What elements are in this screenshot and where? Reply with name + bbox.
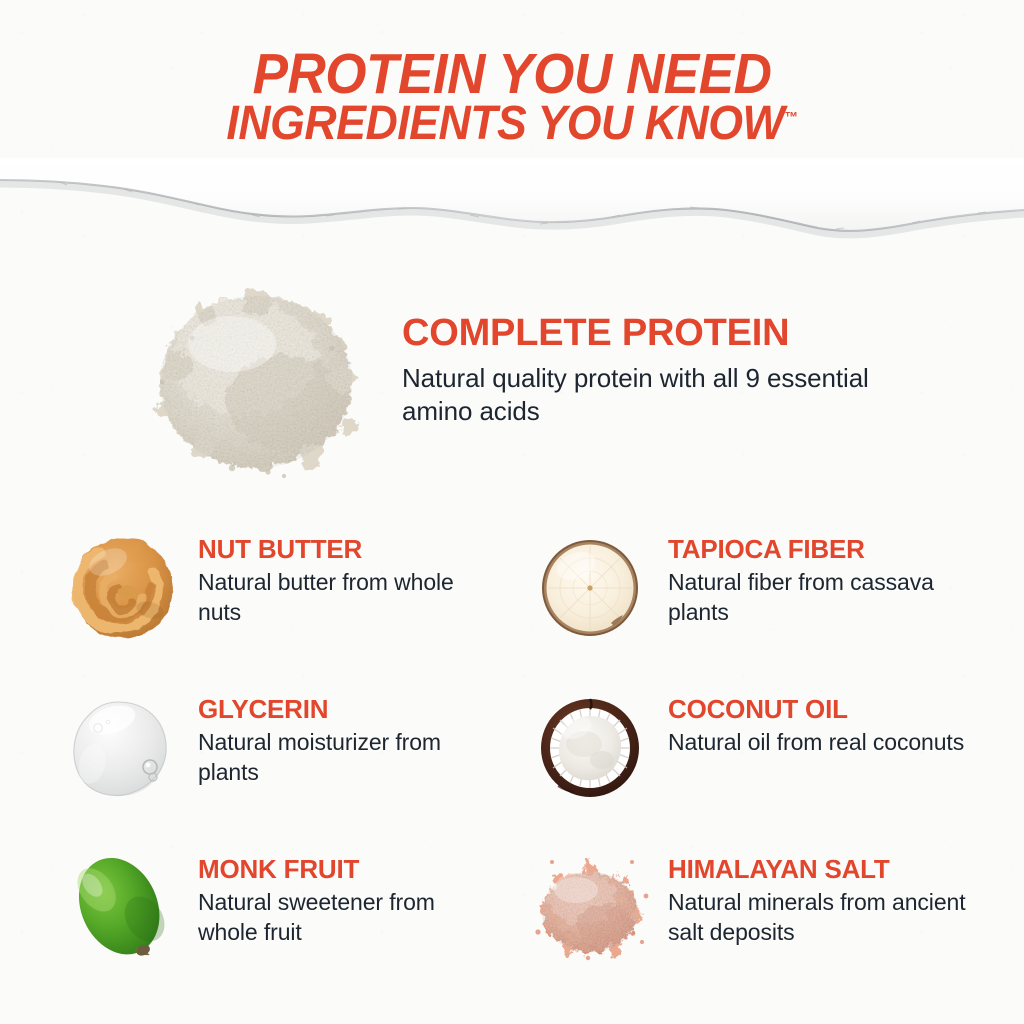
ingredient-row-3: MONK FRUIT Natural sweetener from whole … <box>0 840 1024 980</box>
header: PROTEIN YOU NEED INGREDIENTS YOU KNOW™ <box>0 0 1024 190</box>
himalayan-salt-pile-icon <box>528 846 658 971</box>
ingredient-card-monk-fruit: MONK FRUIT Natural sweetener from whole … <box>30 840 500 980</box>
hero-text-block: COMPLETE PROTEIN Natural quality protein… <box>402 314 872 429</box>
hero-title: COMPLETE PROTEIN <box>402 314 872 354</box>
monk-fruit-text-block: MONK FRUIT Natural sweetener from whole … <box>198 856 498 948</box>
protein-powder-pile-icon <box>136 262 376 487</box>
coconut-oil-description: Natural oil from real coconuts <box>668 728 968 758</box>
monk-fruit-description: Natural sweetener from whole fruit <box>198 888 498 948</box>
glycerin-text-block: GLYCERIN Natural moisturizer from plants <box>198 696 498 788</box>
tapioca-fiber-title: TAPIOCA FIBER <box>668 536 968 563</box>
glycerin-description: Natural moisturizer from plants <box>198 728 498 788</box>
glycerin-droplet-icon <box>58 686 188 811</box>
headline-line-1: PROTEIN YOU NEED <box>36 46 988 103</box>
nut-butter-description: Natural butter from whole nuts <box>198 568 498 628</box>
monk-fruit-title: MONK FRUIT <box>198 856 498 883</box>
tapioca-fiber-text-block: TAPIOCA FIBER Natural fiber from cassava… <box>668 536 968 628</box>
headline-line-2-text: INGREDIENTS YOU KNOW <box>226 97 784 150</box>
ingredient-card-glycerin: GLYCERIN Natural moisturizer from plants <box>30 680 500 820</box>
nut-butter-title: NUT BUTTER <box>198 536 498 563</box>
ingredient-row-2: GLYCERIN Natural moisturizer from plants <box>0 680 1024 820</box>
tapioca-fiber-description: Natural fiber from cassava plants <box>668 568 968 628</box>
tapioca-root-slice-icon <box>528 526 658 651</box>
hero-description: Natural quality protein with all 9 essen… <box>402 362 872 430</box>
ingredient-infographic: PROTEIN YOU NEED INGREDIENTS YOU KNOW™ <box>0 0 1024 1024</box>
ingredient-card-coconut-oil: COCONUT OIL Natural oil from real coconu… <box>500 680 970 820</box>
coconut-oil-title: COCONUT OIL <box>668 696 968 723</box>
coconut-half-icon <box>528 686 658 811</box>
ingredient-row-1: NUT BUTTER Natural butter from whole nut… <box>0 520 1024 660</box>
ingredient-card-tapioca-fiber: TAPIOCA FIBER Natural fiber from cassava… <box>500 520 970 660</box>
trademark-symbol: ™ <box>784 110 797 126</box>
ingredient-card-himalayan-salt: HIMALAYAN SALT Natural minerals from anc… <box>500 840 970 980</box>
himalayan-salt-description: Natural minerals from ancient salt depos… <box>668 888 968 948</box>
himalayan-salt-text-block: HIMALAYAN SALT Natural minerals from anc… <box>668 856 968 948</box>
nut-butter-swirl-icon <box>58 526 188 651</box>
glycerin-title: GLYCERIN <box>198 696 498 723</box>
headline-line-2: INGREDIENTS YOU KNOW™ <box>36 100 988 148</box>
coconut-oil-text-block: COCONUT OIL Natural oil from real coconu… <box>668 696 968 758</box>
himalayan-salt-title: HIMALAYAN SALT <box>668 856 968 883</box>
monk-fruit-icon <box>58 846 188 971</box>
ingredient-card-nut-butter: NUT BUTTER Natural butter from whole nut… <box>30 520 500 660</box>
hero-ingredient-complete-protein: COMPLETE PROTEIN Natural quality protein… <box>0 262 1024 492</box>
nut-butter-text-block: NUT BUTTER Natural butter from whole nut… <box>198 536 498 628</box>
